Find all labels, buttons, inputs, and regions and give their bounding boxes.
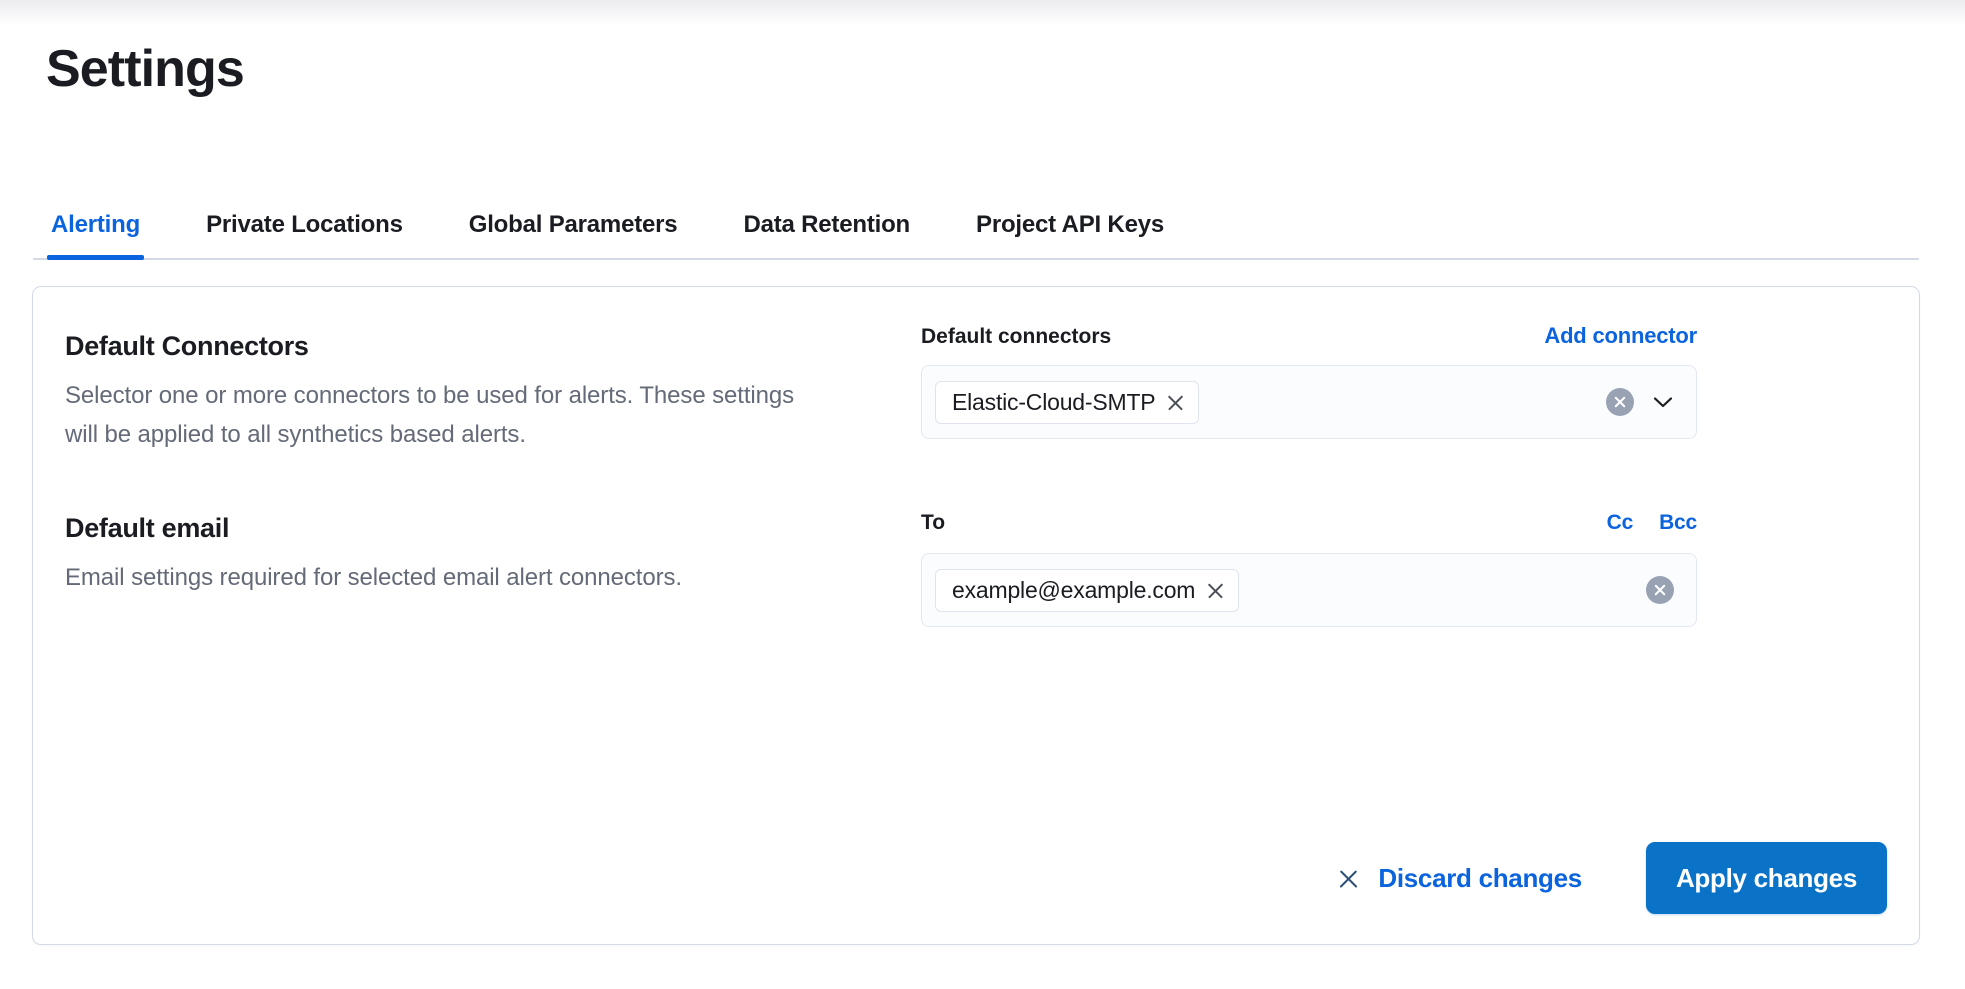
default-connectors-label: Default connectors xyxy=(921,325,1111,349)
connector-pill-label: Elastic-Cloud-SMTP xyxy=(952,389,1155,416)
connector-pill[interactable]: Elastic-Cloud-SMTP xyxy=(935,381,1199,424)
recipient-pill-label: example@example.com xyxy=(952,577,1195,604)
tab-alerting[interactable]: Alerting xyxy=(33,178,158,258)
default-email-description: Email settings required for selected ema… xyxy=(65,558,805,597)
default-connectors-description: Selector one or more connectors to be us… xyxy=(65,376,805,454)
header-shadow-edge xyxy=(0,0,1965,26)
page-title: Settings xyxy=(46,38,244,100)
discard-changes-label: Discard changes xyxy=(1378,863,1582,894)
settings-page: Settings Alerting Private Locations Glob… xyxy=(0,0,1965,989)
discard-changes-button[interactable]: Discard changes xyxy=(1337,863,1624,894)
default-connectors-info: Default Connectors Selector one or more … xyxy=(65,331,855,454)
add-connector-link[interactable]: Add connector xyxy=(1544,323,1697,349)
tab-project-api-keys[interactable]: Project API Keys xyxy=(958,178,1182,258)
card-footer-actions: Discard changes Apply changes xyxy=(1337,842,1887,914)
settings-tab-bar: Alerting Private Locations Global Parame… xyxy=(33,178,1919,260)
email-recipient-toggles: Cc Bcc xyxy=(1607,511,1697,535)
cc-link[interactable]: Cc xyxy=(1607,511,1633,535)
default-connectors-field-head: Default connectors Add connector xyxy=(921,323,1697,353)
default-email-title: Default email xyxy=(65,513,855,544)
recipient-pill[interactable]: example@example.com xyxy=(935,569,1239,612)
tab-data-retention[interactable]: Data Retention xyxy=(725,178,928,258)
chevron-down-icon[interactable] xyxy=(1650,389,1676,415)
close-x-icon xyxy=(1337,867,1360,890)
tab-global-parameters[interactable]: Global Parameters xyxy=(451,178,696,258)
default-email-info: Default email Email settings required fo… xyxy=(65,513,855,597)
recipient-pill-remove-icon[interactable] xyxy=(1206,581,1225,600)
connectors-clear-icon[interactable] xyxy=(1606,388,1634,416)
apply-changes-button[interactable]: Apply changes xyxy=(1646,842,1887,914)
default-connectors-field: Default connectors Add connector Elastic… xyxy=(921,323,1697,439)
alerting-settings-card: Default Connectors Selector one or more … xyxy=(32,286,1920,945)
to-label: To xyxy=(921,511,945,535)
default-connectors-title: Default Connectors xyxy=(65,331,855,362)
tab-private-locations[interactable]: Private Locations xyxy=(188,178,421,258)
to-recipients-combobox[interactable]: example@example.com xyxy=(921,553,1697,627)
default-connectors-actions: Add connector xyxy=(1544,323,1697,349)
default-email-field-head: To Cc Bcc xyxy=(921,511,1697,541)
default-email-field: To Cc Bcc example@example.com xyxy=(921,511,1697,627)
recipients-clear-icon[interactable] xyxy=(1646,576,1674,604)
default-connectors-combobox[interactable]: Elastic-Cloud-SMTP xyxy=(921,365,1697,439)
bcc-link[interactable]: Bcc xyxy=(1659,511,1697,535)
connector-pill-remove-icon[interactable] xyxy=(1166,393,1185,412)
